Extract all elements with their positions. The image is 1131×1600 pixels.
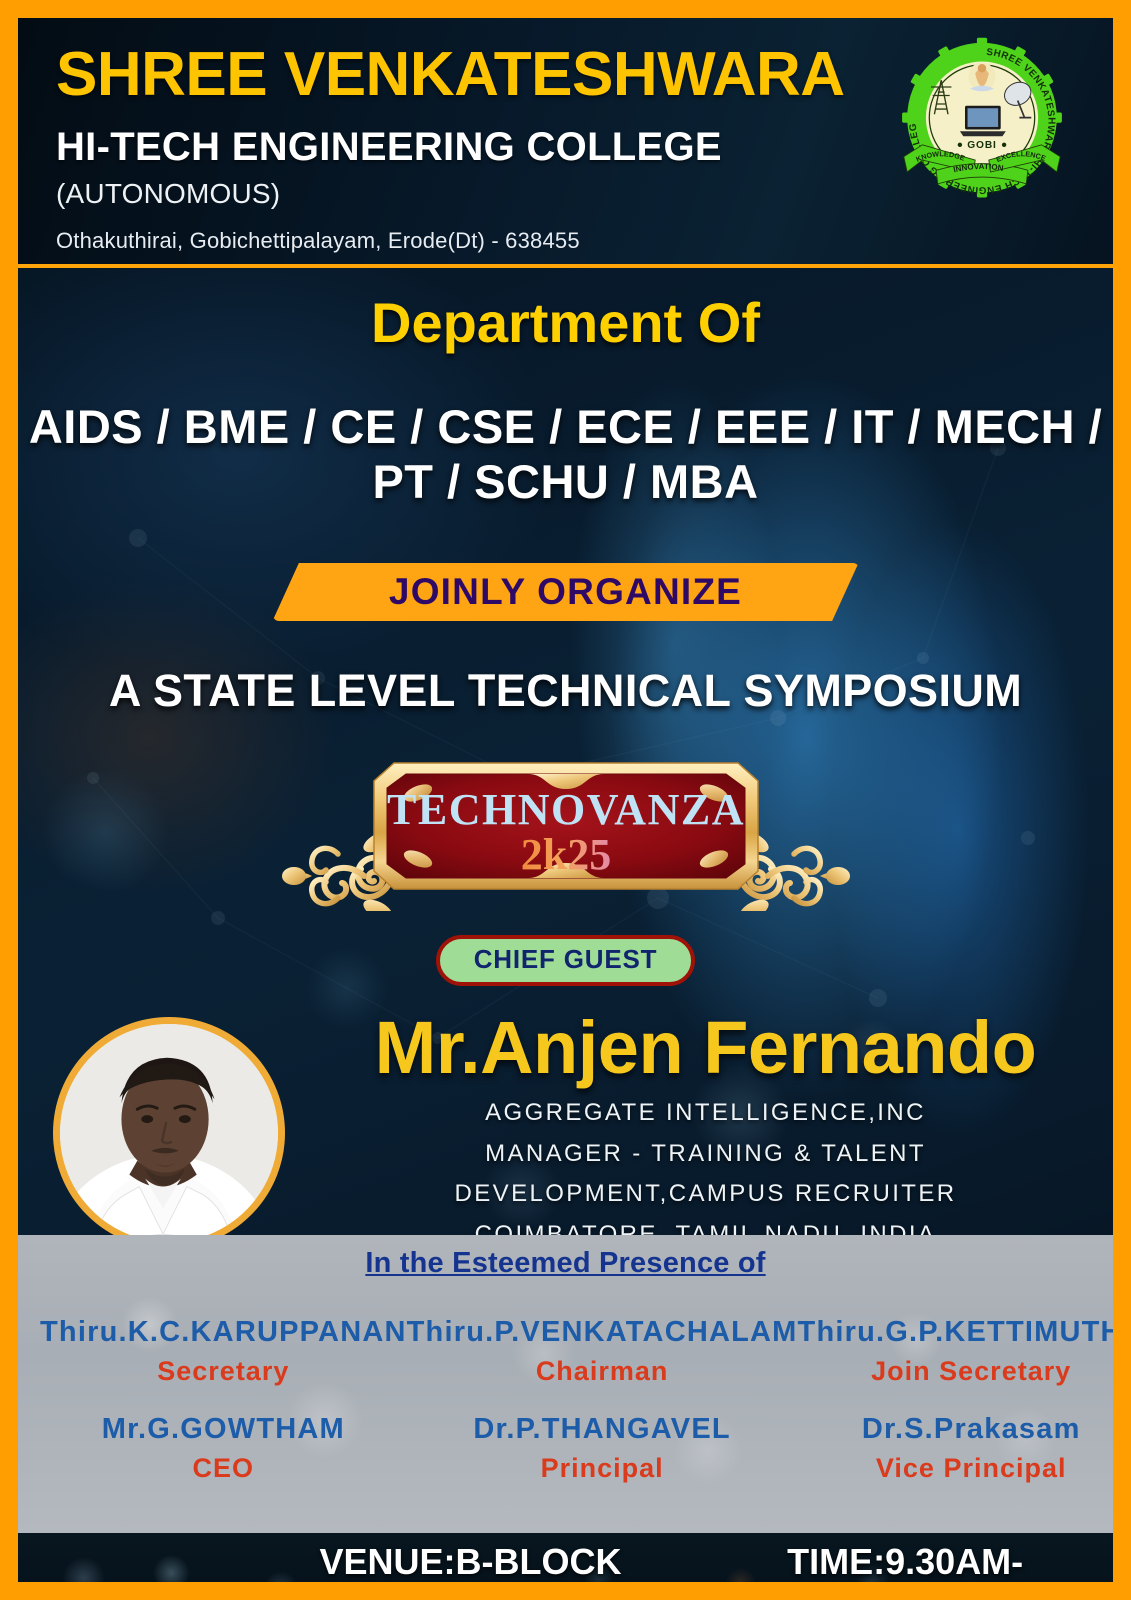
dignitary-name: Dr.P.THANGAVEL [407, 1413, 798, 1446]
poster-body: Department Of AIDS / BME / CE / CSE / EC… [18, 268, 1113, 1235]
department-list: AIDS / BME / CE / CSE / ECE / EEE / IT /… [18, 399, 1113, 509]
event-time: TIME:9.30AM-4.00PM [787, 1541, 1099, 1582]
dignitary-item: Dr.P.THANGAVEL Principal [407, 1413, 798, 1484]
jointly-organize-label: JOINLY ORGANIZE [389, 571, 742, 613]
chief-guest-photo [53, 1017, 285, 1249]
department-of-label: Department Of [18, 268, 1113, 355]
dignitary-item: Thiru.P.VENKATACHALAM Chairman [407, 1316, 798, 1387]
dignitary-item: Thiru.K.C.KARUPPANAN Secretary [40, 1316, 407, 1387]
esteemed-presence-title: In the Esteemed Presence of [18, 1247, 1113, 1280]
chief-guest-badge: CHIEF GUEST [436, 935, 696, 986]
dignitary-role: Vice Principal [798, 1453, 1113, 1484]
chief-guest-affiliation-line1: AGGREGATE INTELLIGENCE,INC [318, 1098, 1093, 1129]
chief-guest-affiliation-line2: MANAGER - TRAINING & TALENT [318, 1139, 1093, 1170]
dignitary-role: Secretary [40, 1356, 407, 1387]
person-portrait-icon [60, 1024, 278, 1242]
event-name: TECHNOVANZA [387, 785, 745, 834]
dignitary-name: Thiru.P.VENKATACHALAM [407, 1316, 798, 1349]
dignitary-item: Mr.G.GOWTHAM CEO [40, 1413, 407, 1484]
poster-footer: DATE:21/03/2025 VENUE:B-BLOCK AUDITORIUM… [18, 1533, 1113, 1582]
dignitary-item: Thiru.G.P.KETTIMUTHU Join Secretary [798, 1316, 1113, 1387]
jointly-organize-banner-wrap: JOINLY ORGANIZE [18, 563, 1113, 621]
dignitary-name: Thiru.K.C.KARUPPANAN [40, 1316, 407, 1349]
chief-guest-badge-wrap: CHIEF GUEST [18, 935, 1113, 986]
dignitary-item: Dr.S.Prakasam Vice Principal [798, 1413, 1113, 1484]
college-crest-logo-icon: SHREE VENKATESHWARA HI-TECH ENGINEERING … [897, 36, 1067, 206]
ornate-plaque-icon: TECHNOVANZA 2k25 [246, 741, 886, 911]
esteemed-presence-panel: In the Esteemed Presence of Thiru.K.C.KA… [18, 1235, 1113, 1533]
dignitary-role: Chairman [407, 1356, 798, 1387]
dignitary-role: Principal [407, 1453, 798, 1484]
chief-guest-affiliation-line3: DEVELOPMENT,CAMPUS RECRUITER [318, 1179, 1093, 1210]
event-year: 2k25 [520, 830, 610, 879]
svg-text:GOBI: GOBI [967, 140, 996, 151]
dignitary-name: Mr.G.GOWTHAM [40, 1413, 407, 1446]
event-plaque: TECHNOVANZA 2k25 [246, 741, 886, 911]
event-plaque-wrap: TECHNOVANZA 2k25 [18, 741, 1113, 911]
event-venue: VENUE:B-BLOCK AUDITORIUM [320, 1541, 788, 1582]
dignitary-role: Join Secretary [798, 1356, 1113, 1387]
poster-header: SHREE VENKATESHWARA HI-TECH ENGINEERING … [18, 18, 1113, 268]
dignitary-name: Dr.S.Prakasam [798, 1413, 1113, 1446]
poster-inner: SHREE VENKATESHWARA HI-TECH ENGINEERING … [18, 18, 1113, 1582]
dignitary-name: Thiru.G.P.KETTIMUTHU [798, 1316, 1113, 1349]
chief-guest-name: Mr.Anjen Fernando [318, 1008, 1093, 1088]
symposium-title: A STATE LEVEL TECHNICAL SYMPOSIUM [18, 665, 1113, 717]
chief-guest-section: Mr.Anjen Fernando AGGREGATE INTELLIGENCE… [18, 1008, 1113, 1251]
dignitaries-grid: Thiru.K.C.KARUPPANAN Secretary Thiru.P.V… [18, 1316, 1113, 1484]
college-address: Othakuthirai, Gobichettipalayam, Erode(D… [56, 228, 1085, 254]
event-poster: SHREE VENKATESHWARA HI-TECH ENGINEERING … [0, 0, 1131, 1600]
jointly-organize-banner: JOINLY ORGANIZE [273, 563, 859, 621]
chief-guest-badge-label: CHIEF GUEST [474, 944, 658, 974]
dignitary-role: CEO [40, 1453, 407, 1484]
